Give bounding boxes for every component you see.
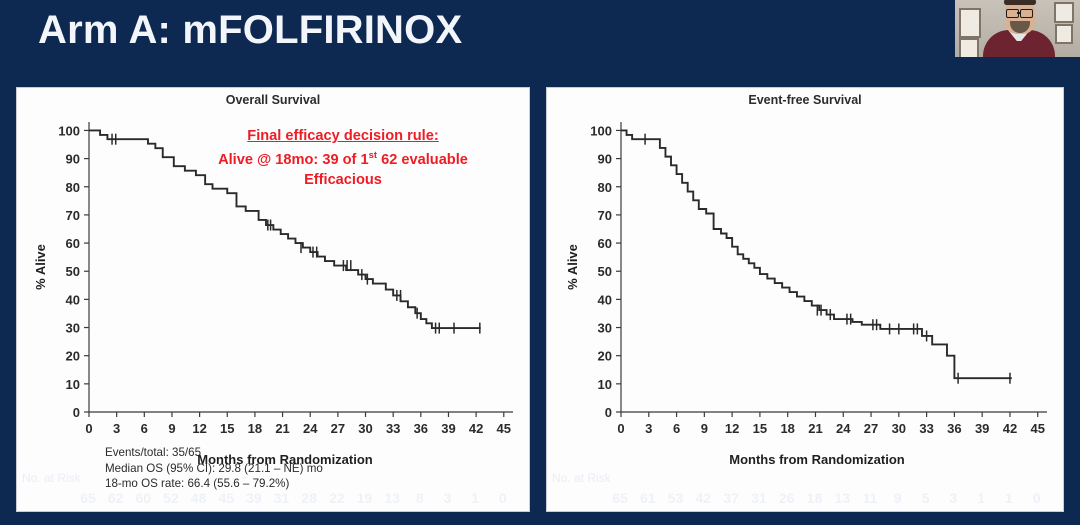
risk-count: 22	[329, 490, 345, 506]
svg-text:3: 3	[645, 421, 652, 436]
risk-count: 28	[301, 490, 317, 506]
svg-text:24: 24	[836, 421, 851, 436]
risk-table-row-efs: 65615342373126181311953110	[582, 490, 1064, 514]
risk-count: 3	[444, 490, 452, 506]
svg-text:0: 0	[605, 405, 612, 420]
svg-text:30: 30	[892, 421, 906, 436]
svg-text:33: 33	[919, 421, 933, 436]
svg-text:33: 33	[386, 421, 400, 436]
risk-count: 5	[922, 490, 930, 506]
svg-text:% Alive: % Alive	[33, 244, 48, 290]
svg-text:24: 24	[303, 421, 318, 436]
svg-text:30: 30	[66, 321, 80, 336]
risk-count: 1	[471, 490, 479, 506]
svg-text:21: 21	[275, 421, 289, 436]
svg-text:50: 50	[66, 264, 80, 279]
callout-line-2: Alive @ 18mo: 39 of 1st 62 evaluable	[173, 146, 513, 170]
svg-text:100: 100	[58, 123, 80, 138]
risk-count: 45	[218, 490, 234, 506]
svg-text:3: 3	[113, 421, 120, 436]
svg-text:0: 0	[73, 405, 80, 420]
svg-text:39: 39	[441, 421, 455, 436]
svg-text:90: 90	[66, 152, 80, 167]
svg-text:70: 70	[598, 208, 612, 223]
glasses-bridge	[1017, 12, 1021, 14]
svg-text:9: 9	[168, 421, 175, 436]
kaplan-meier-plot-efs: 0102030405060708090100036912151821242730…	[547, 88, 1065, 513]
wall-picture-frame	[1054, 2, 1074, 23]
svg-text:70: 70	[66, 208, 80, 223]
svg-text:12: 12	[725, 421, 739, 436]
wall-picture-frame	[1055, 24, 1073, 44]
glasses-icon	[1020, 9, 1033, 18]
callout-line-3: Efficacious	[173, 170, 513, 190]
risk-count: 31	[274, 490, 290, 506]
svg-text:18: 18	[248, 421, 262, 436]
x-axis-title-efs: Months from Randomization	[592, 452, 1042, 467]
svg-text:40: 40	[66, 292, 80, 307]
risk-table-row-os: 6562605248453931282219138310	[52, 490, 530, 514]
wall-picture-frame	[959, 38, 979, 57]
risk-count: 62	[108, 490, 124, 506]
svg-text:12: 12	[192, 421, 206, 436]
svg-text:27: 27	[331, 421, 345, 436]
risk-count: 11	[863, 490, 878, 506]
svg-text:15: 15	[753, 421, 767, 436]
svg-text:0: 0	[85, 421, 92, 436]
risk-count: 9	[894, 490, 902, 506]
svg-text:9: 9	[701, 421, 708, 436]
risk-table-label-os: No. at Risk	[22, 471, 81, 485]
svg-text:90: 90	[598, 152, 612, 167]
risk-count: 13	[834, 490, 850, 506]
risk-count: 31	[751, 490, 767, 506]
svg-text:10: 10	[598, 377, 612, 392]
risk-count: 8	[416, 490, 424, 506]
risk-count: 61	[640, 490, 656, 506]
risk-count: 39	[246, 490, 262, 506]
svg-text:40: 40	[598, 292, 612, 307]
callout-ordinal-suffix: st	[369, 150, 377, 161]
risk-count: 42	[696, 490, 712, 506]
svg-text:20: 20	[598, 349, 612, 364]
callout-line-2a: Alive @ 18mo: 39 of 1	[218, 152, 369, 168]
svg-text:6: 6	[141, 421, 148, 436]
svg-text:39: 39	[975, 421, 989, 436]
risk-count: 53	[668, 490, 684, 506]
x-axis-title-os: Months from Randomization	[60, 452, 510, 467]
callout-line-1: Final efficacy decision rule:	[173, 126, 513, 146]
page-title: Arm A: mFOLFIRINOX	[38, 8, 462, 53]
risk-table-label-efs: No. at Risk	[552, 471, 611, 485]
svg-text:20: 20	[66, 349, 80, 364]
svg-text:36: 36	[947, 421, 961, 436]
svg-text:100: 100	[590, 123, 612, 138]
risk-count: 48	[191, 490, 207, 506]
callout-line-2b: 62 evaluable	[377, 152, 468, 168]
svg-text:15: 15	[220, 421, 234, 436]
risk-count: 3	[949, 490, 957, 506]
svg-text:45: 45	[497, 421, 511, 436]
svg-text:42: 42	[1003, 421, 1017, 436]
risk-count: 26	[779, 490, 795, 506]
risk-count: 1	[977, 490, 985, 506]
svg-text:18: 18	[780, 421, 794, 436]
presenter-hair	[1004, 0, 1036, 5]
risk-count: 37	[723, 490, 739, 506]
svg-text:27: 27	[864, 421, 878, 436]
risk-count: 13	[384, 490, 400, 506]
chart-panel-event-free-survival: Event-free Survival 01020304050607080901…	[546, 87, 1064, 512]
svg-text:6: 6	[673, 421, 680, 436]
risk-count: 1	[1005, 490, 1013, 506]
svg-text:10: 10	[66, 377, 80, 392]
risk-count: 18	[807, 490, 823, 506]
efficacy-callout: Final efficacy decision rule: Alive @ 18…	[173, 126, 513, 190]
svg-text:50: 50	[598, 264, 612, 279]
svg-text:21: 21	[808, 421, 822, 436]
svg-text:80: 80	[598, 180, 612, 195]
svg-text:60: 60	[66, 236, 80, 251]
risk-count: 60	[136, 490, 152, 506]
risk-count: 65	[80, 490, 96, 506]
svg-text:36: 36	[414, 421, 428, 436]
svg-text:30: 30	[598, 321, 612, 336]
svg-text:60: 60	[598, 236, 612, 251]
risk-count: 52	[163, 490, 179, 506]
svg-text:% Alive: % Alive	[565, 244, 580, 290]
risk-count: 0	[499, 490, 507, 506]
wall-picture-frame	[959, 8, 981, 38]
presentation-slide: Arm A: mFOLFIRINOX Overall Survival 0102…	[0, 0, 1080, 525]
svg-text:30: 30	[358, 421, 372, 436]
svg-text:42: 42	[469, 421, 483, 436]
presenter-webcam-video[interactable]	[955, 0, 1080, 57]
risk-count: 19	[357, 490, 373, 506]
svg-text:80: 80	[66, 180, 80, 195]
svg-text:0: 0	[617, 421, 624, 436]
risk-count: 65	[612, 490, 628, 506]
svg-text:45: 45	[1031, 421, 1045, 436]
risk-count: 0	[1033, 490, 1041, 506]
